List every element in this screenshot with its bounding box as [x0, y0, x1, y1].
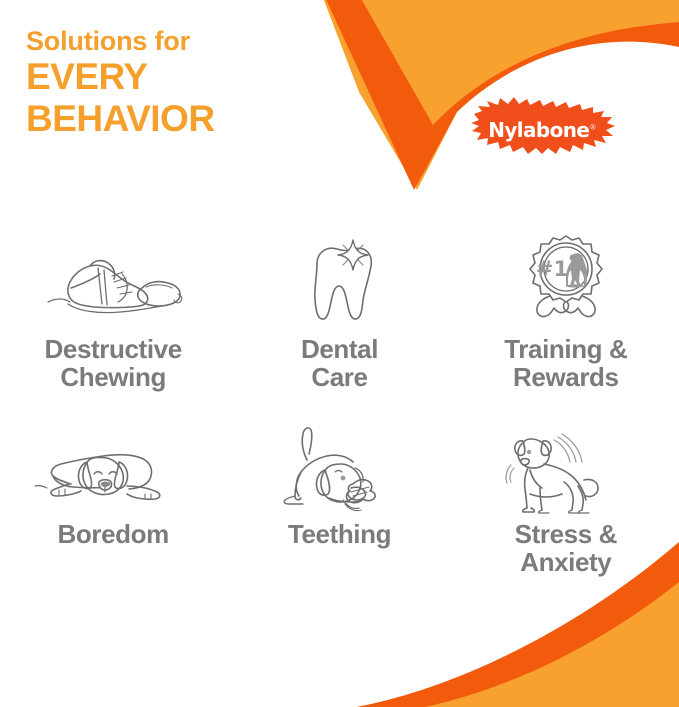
- headline-block: Solutions for EVERY BEHAVIOR: [26, 26, 326, 139]
- behavior-label: Dental Care: [301, 335, 378, 391]
- behavior-label: Teething: [288, 520, 391, 548]
- anxious-standing-dog-icon: [496, 424, 636, 514]
- bored-lying-dog-icon: [33, 424, 193, 514]
- behavior-label: Training & Rewards: [504, 335, 627, 391]
- behavior-item-training-rewards: #1 Training & Rewards: [453, 232, 679, 424]
- nylabone-logo: Nylabone®: [470, 92, 618, 164]
- headline-line-2: EVERY: [26, 56, 326, 97]
- puppy-with-chew-toy-icon: [269, 424, 409, 514]
- headline-line-1: Solutions for: [26, 26, 326, 56]
- promo-banner: Solutions for EVERY BEHAVIOR Nylabone®: [0, 0, 679, 707]
- behavior-item-dental-care: Dental Care: [226, 232, 452, 424]
- chewed-shoe-icon: [38, 232, 188, 327]
- trademark-symbol: ®: [589, 123, 595, 131]
- behavior-item-boredom: Boredom: [0, 424, 226, 599]
- behavior-item-stress-anxiety: Stress & Anxiety: [453, 424, 679, 599]
- behavior-item-teething: Teething: [226, 424, 452, 599]
- award-ribbon-dog-icon: #1: [506, 232, 626, 327]
- behavior-item-destructive-chewing: Destructive Chewing: [0, 232, 226, 424]
- behavior-label: Stress & Anxiety: [515, 520, 617, 576]
- sparkling-tooth-icon: [279, 232, 399, 327]
- behavior-label: Boredom: [58, 520, 169, 548]
- headline-line-3: BEHAVIOR: [26, 98, 326, 139]
- brand-wordmark: Nylabone®: [470, 92, 618, 164]
- behavior-grid: Destructive Chewing Dental Care: [0, 232, 679, 599]
- svg-text:#1: #1: [536, 257, 568, 281]
- behavior-label: Destructive Chewing: [45, 335, 182, 391]
- brand-name: Nylabone: [488, 118, 589, 142]
